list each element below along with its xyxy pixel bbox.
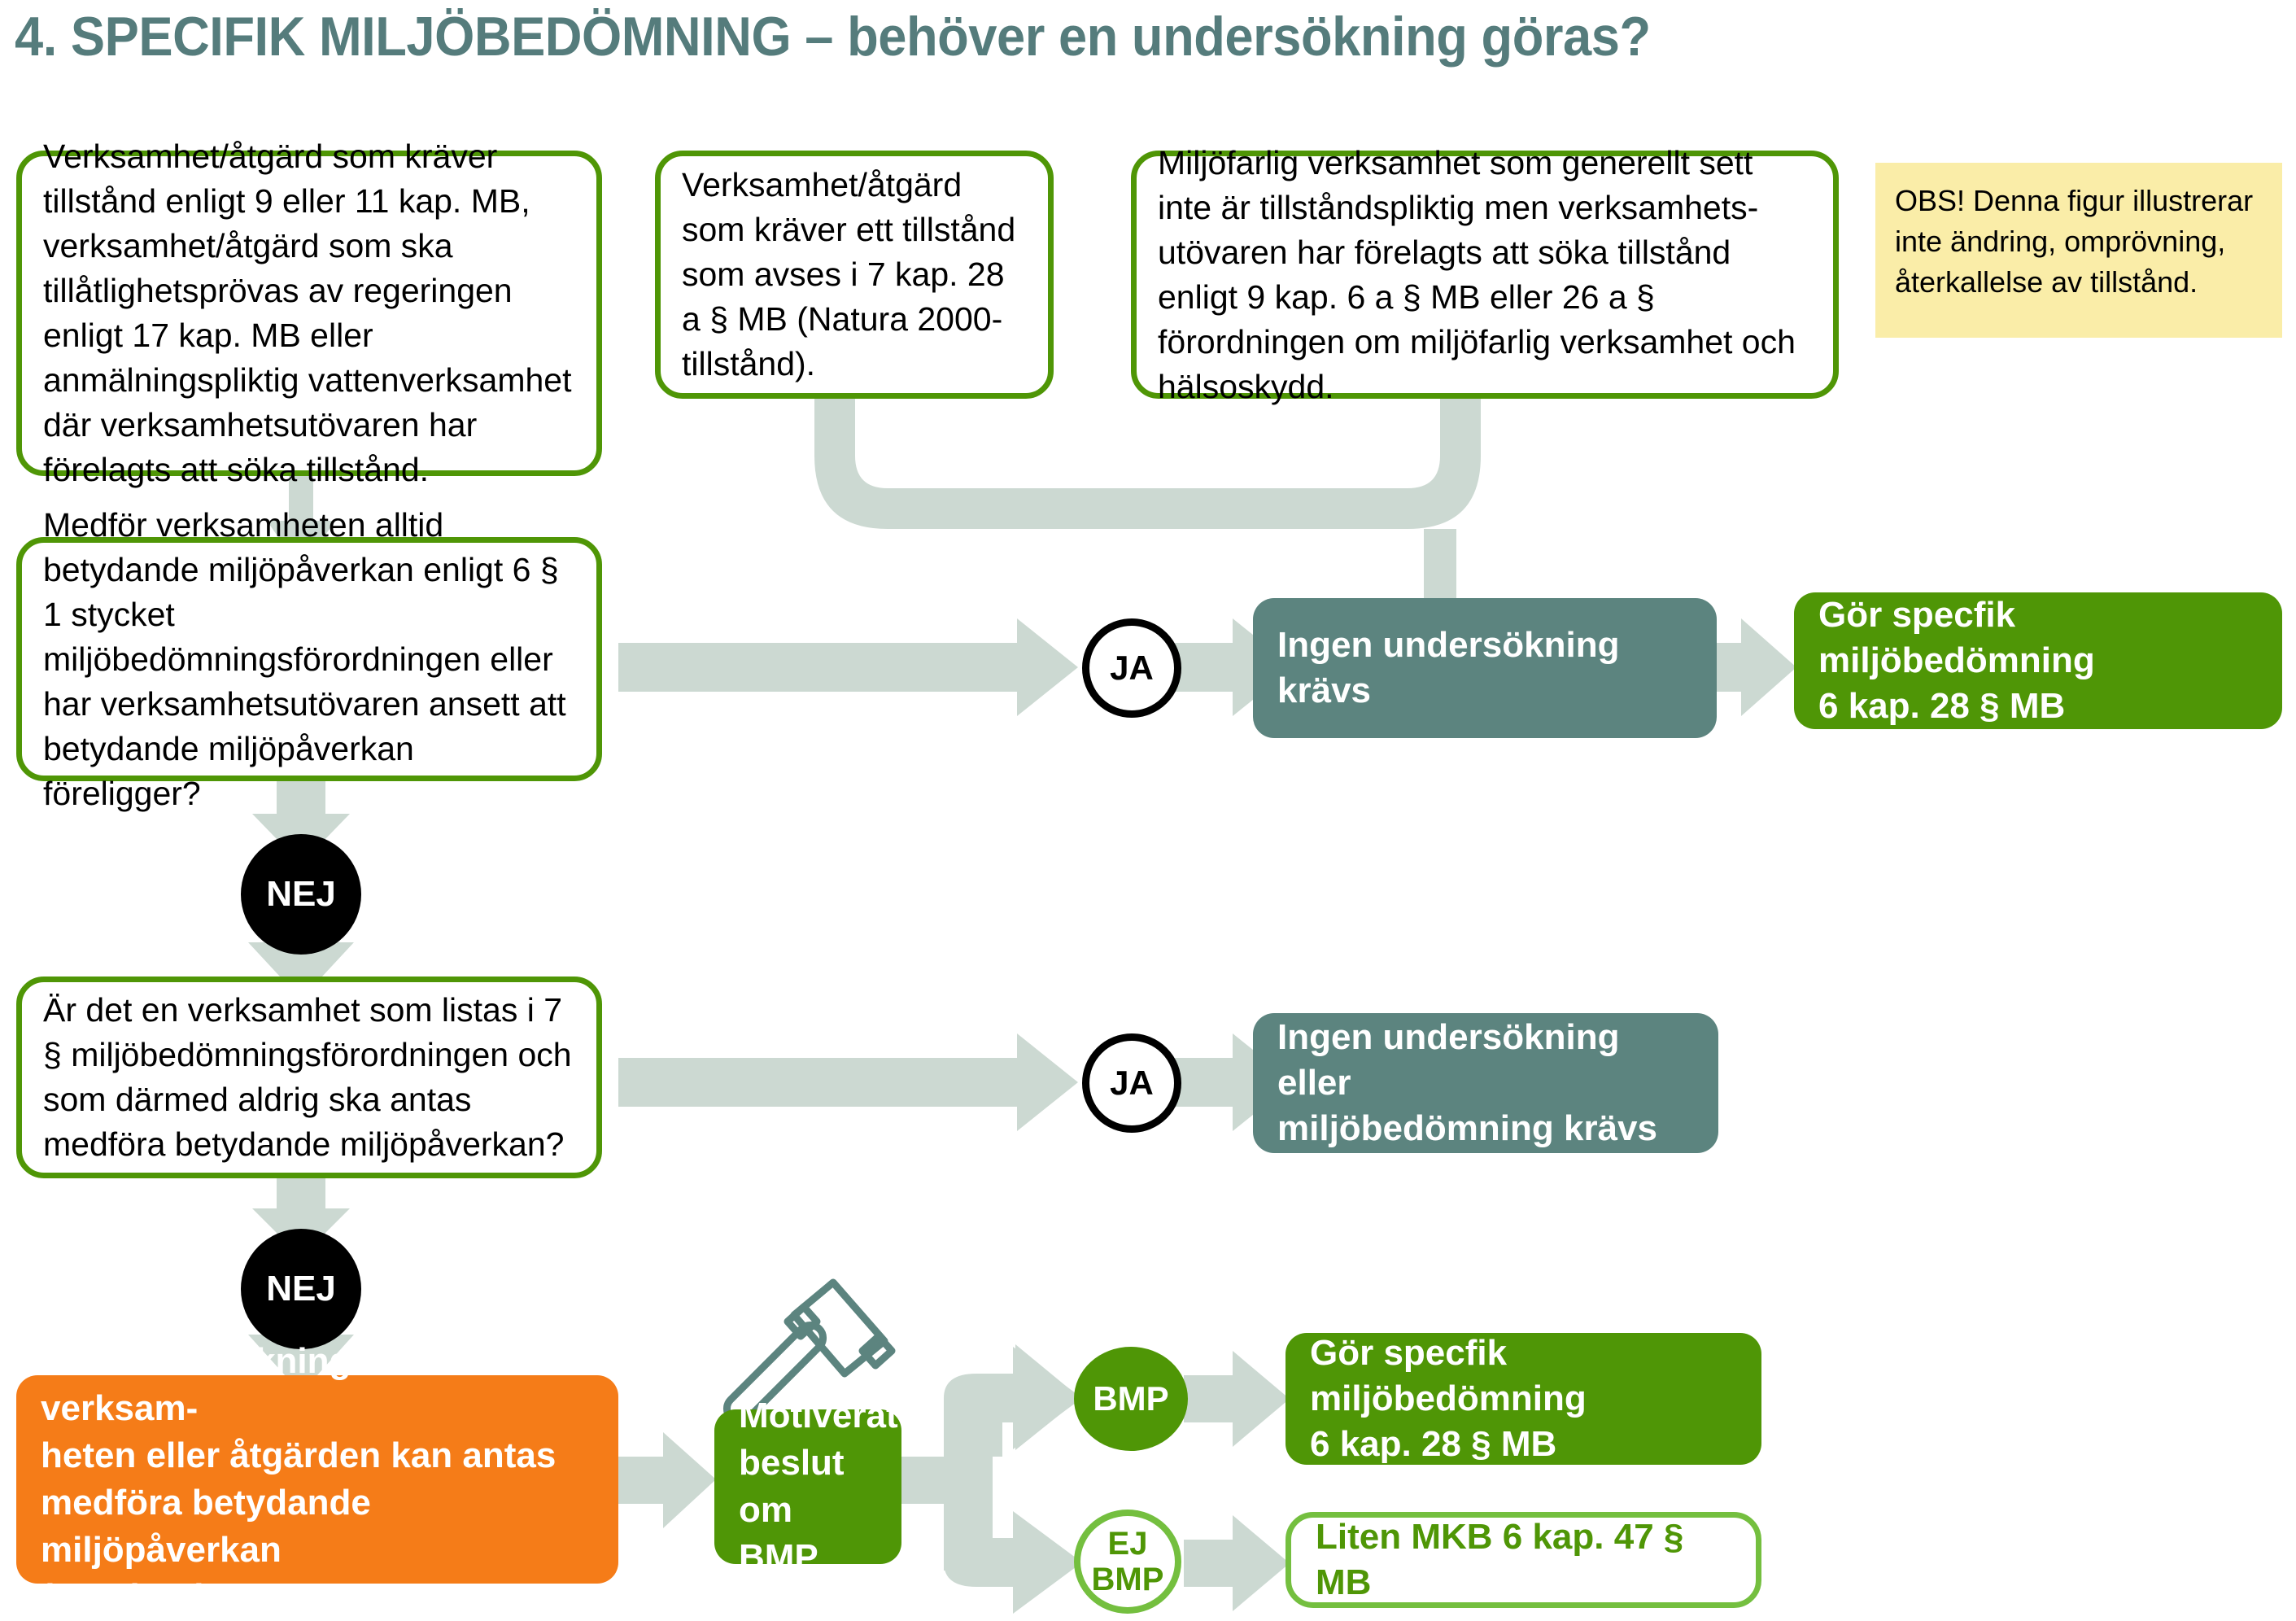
outcome-gor-undersokning-text: Gör undersökning av om verksam- heten el… [41, 1338, 594, 1621]
decision-marker-bmp: BMP [1074, 1347, 1188, 1451]
input-box-2-text: Verksamhet/åtgärd som kräver ett tillstå… [682, 163, 1027, 387]
connector-orange-arrowhead [663, 1432, 716, 1528]
connector-orange-to-motiverat [618, 1457, 663, 1504]
outcome-gor-specfik-1: Gör specfik miljöbedömning 6 kap. 28 § M… [1794, 592, 2282, 729]
connector-question1-to-ja [618, 643, 1017, 692]
decision-marker-nej-2-label: NEJ [266, 1270, 336, 1308]
decision-marker-ja-1-label: JA [1110, 650, 1154, 686]
connector-ejbmp-result-arrowhead [1233, 1515, 1290, 1611]
decision-marker-nej-1-label: NEJ [266, 876, 336, 913]
decision-marker-nej-1: NEJ [241, 834, 361, 955]
outcome-gor-specfik-2-text: Gör specfik miljöbedömning 6 kap. 28 § M… [1310, 1330, 1737, 1467]
input-box-1-text: Verksamhet/åtgärd som kräver tillstånd e… [43, 134, 575, 492]
outcome-gor-specfik-1-text: Gör specfik miljöbedömning 6 kap. 28 § M… [1818, 592, 2258, 729]
outcome-liten-mkb-text: Liten MKB 6 kap. 47 § MB [1316, 1514, 1731, 1606]
connector-split-upper-elbow [944, 1374, 1017, 1422]
connector-teal1-arrowhead [1741, 618, 1796, 716]
input-box-2: Verksamhet/åtgärd som kräver ett tillstå… [655, 151, 1054, 399]
connector-bmp-result-arrowhead [1233, 1351, 1290, 1447]
outcome-ingen-undersokning-eller: Ingen undersökning eller miljöbedömning … [1253, 1013, 1718, 1153]
outcome-motiverat-beslut-text: Motiverat beslut om BMP [739, 1392, 877, 1581]
note-box-text: OBS! Denna figur illustrerar inte ändrin… [1895, 181, 2263, 303]
connector-question2-arrowhead [1017, 1033, 1078, 1131]
decision-marker-bmp-label: BMP [1093, 1381, 1168, 1417]
outcome-ingen-undersokning-text: Ingen undersökning krävs [1277, 623, 1692, 714]
decision-marker-nej-2: NEJ [241, 1229, 361, 1349]
question-box-1-text: Medför verksamheten alltid betydande mil… [43, 503, 575, 816]
input-box-3: Miljöfarlig verksamhet som generellt set… [1131, 151, 1839, 399]
connector-ejbmp-arrowhead [1013, 1511, 1082, 1614]
outcome-motiverat-beslut: Motiverat beslut om BMP [714, 1409, 901, 1564]
note-box: OBS! Denna figur illustrerar inte ändrin… [1875, 163, 2282, 338]
connector-split-upper [954, 1344, 1080, 1457]
outcome-ingen-undersokning: Ingen undersökning krävs [1253, 598, 1717, 738]
question-box-2-text: Är det en verksamhet som listas i 7 § mi… [43, 988, 575, 1167]
outcome-ingen-undersokning-eller-text: Ingen undersökning eller miljöbedömning … [1277, 1015, 1694, 1151]
input-box-1: Verksamhet/åtgärd som kräver tillstånd e… [16, 151, 602, 476]
connector-ejbmp-to-liten [1184, 1540, 1233, 1587]
flowchart-diagram: 4. SPECIFIK MILJÖBEDÖMNING – behöver en … [0, 0, 2296, 1614]
connector-question2-to-ja [618, 1058, 1017, 1107]
decision-marker-ej-bmp-label: EJ BMP [1092, 1526, 1164, 1597]
connector-split-lower-spine [944, 1473, 993, 1571]
decision-marker-ja-2-label: JA [1110, 1065, 1154, 1101]
page-title: 4. SPECIFIK MILJÖBEDÖMNING – behöver en … [15, 5, 2118, 68]
connector-question1-arrowhead [1017, 618, 1078, 716]
connector-bmp-arrowhead [1013, 1347, 1082, 1449]
outcome-gor-specfik-2: Gör specfik miljöbedömning 6 kap. 28 § M… [1285, 1333, 1761, 1465]
decision-marker-ja-1: JA [1082, 618, 1181, 718]
decision-marker-ej-bmp: EJ BMP [1074, 1510, 1181, 1614]
question-box-1: Medför verksamheten alltid betydande mil… [16, 537, 602, 781]
decision-marker-ja-2: JA [1082, 1033, 1181, 1133]
question-box-2: Är det en verksamhet som listas i 7 § mi… [16, 977, 602, 1178]
connector-motiverat-trunk [897, 1457, 986, 1504]
outcome-liten-mkb: Liten MKB 6 kap. 47 § MB [1285, 1512, 1761, 1608]
connector-split-lower-elbow [944, 1538, 1017, 1587]
outcome-gor-undersokning: Gör undersökning av om verksam- heten el… [16, 1375, 618, 1584]
connector-split-spine [944, 1398, 993, 1504]
input-box-3-text: Miljöfarlig verksamhet som generellt set… [1158, 141, 1812, 409]
connector-bmp-to-green [1184, 1375, 1233, 1422]
